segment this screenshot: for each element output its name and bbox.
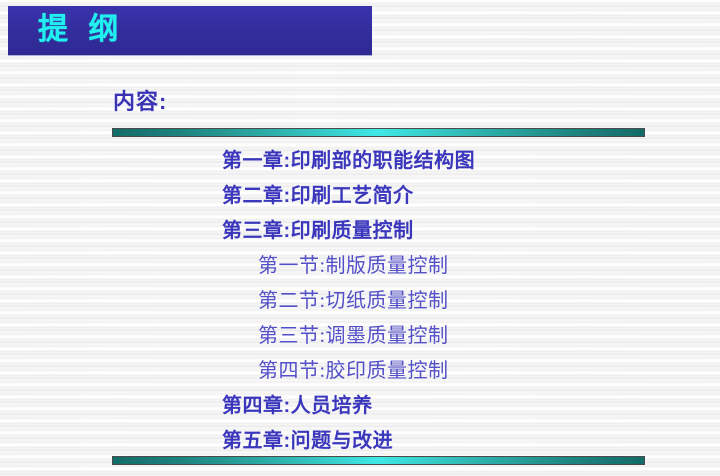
outline-item-chapter: 第二章:印刷工艺简介: [222, 179, 720, 214]
content-heading: 内容:: [113, 84, 167, 116]
outline-item-chapter: 第三章:印刷质量控制: [222, 214, 720, 249]
outline-item-section: 第二节:切纸质量控制: [258, 284, 720, 319]
presentation-slide: 提 纲 内容: 第一章:印刷部的职能结构图第二章:印刷工艺简介第三章:印刷质量控…: [0, 0, 720, 476]
outline-item-chapter: 第四章:人员培养: [222, 389, 720, 424]
outline-item-section: 第三节:调墨质量控制: [258, 319, 720, 354]
outline-item-section: 第四节:胶印质量控制: [258, 354, 720, 389]
outline-item-chapter: 第一章:印刷部的职能结构图: [222, 144, 720, 179]
divider-bar-top: [112, 128, 645, 137]
outline-item-chapter: 第五章:问题与改进: [222, 424, 720, 459]
slide-title-banner: 提 纲: [8, 6, 372, 55]
divider-bar-bottom: [112, 456, 645, 465]
slide-title: 提 纲: [38, 13, 124, 47]
outline-item-section: 第一节:制版质量控制: [258, 249, 720, 284]
outline-list: 第一章:印刷部的职能结构图第二章:印刷工艺简介第三章:印刷质量控制第一节:制版质…: [0, 144, 720, 459]
